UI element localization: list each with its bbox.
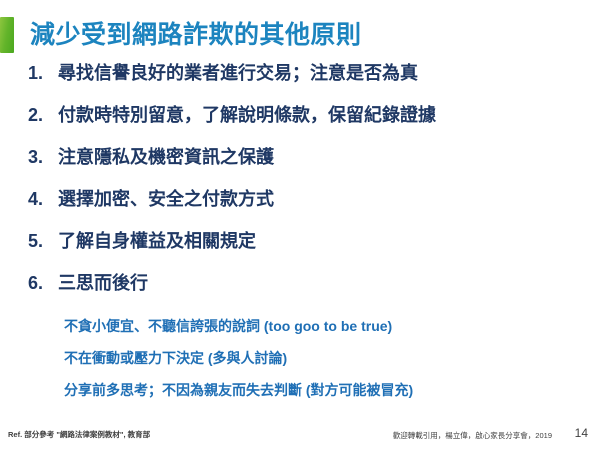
- sub-bullet-list: 不貪小便宜、不聽信誇張的說詞 (too goo to be true) 不在衝動…: [64, 310, 584, 406]
- sub-bullet-item: 不在衝動或壓力下決定 (多與人討論): [64, 342, 584, 374]
- list-item: 2. 付款時特別留意，了解說明條款，保留紀錄證據: [28, 106, 584, 148]
- list-item-number: 3.: [28, 148, 58, 166]
- list-item-label: 三思而後行: [58, 274, 148, 292]
- title-row: 減少受到網路詐欺的其他原則: [0, 16, 600, 54]
- list-item: 4. 選擇加密、安全之付款方式: [28, 190, 584, 232]
- slide-canvas: 減少受到網路詐欺的其他原則 1. 尋找信譽良好的業者進行交易；注意是否為真 2.…: [0, 0, 600, 450]
- list-item-label: 注意隱私及機密資訊之保護: [58, 148, 274, 166]
- list-item-number: 2.: [28, 106, 58, 124]
- list-item-label: 了解自身權益及相關規定: [58, 232, 256, 250]
- list-item-number: 1.: [28, 64, 58, 82]
- list-item-number: 4.: [28, 190, 58, 208]
- list-item-label: 選擇加密、安全之付款方式: [58, 190, 274, 208]
- list-item: 3. 注意隱私及機密資訊之保護: [28, 148, 584, 190]
- page-title: 減少受到網路詐欺的其他原則: [30, 23, 362, 48]
- list-item-number: 5.: [28, 232, 58, 250]
- list-item-label: 尋找信譽良好的業者進行交易；注意是否為真: [58, 64, 418, 82]
- footer-reference: Ref. 部分參考 "網路法律案例教材", 教育部: [8, 429, 150, 440]
- sub-bullet-item: 分享前多思考；不因為親友而失去判斷 (對方可能被冒充): [64, 374, 584, 406]
- list-item-label: 付款時特別留意，了解說明條款，保留紀錄證據: [58, 106, 436, 124]
- numbered-list: 1. 尋找信譽良好的業者進行交易；注意是否為真 2. 付款時特別留意，了解說明條…: [28, 64, 584, 316]
- page-number: 14: [575, 426, 588, 440]
- list-item: 1. 尋找信譽良好的業者進行交易；注意是否為真: [28, 64, 584, 106]
- list-item: 5. 了解自身權益及相關規定: [28, 232, 584, 274]
- list-item-number: 6.: [28, 274, 58, 292]
- green-accent-bar: [0, 17, 14, 53]
- footer-attribution: 歡迎轉載引用，楊立偉，啟心家長分享會，2019: [393, 430, 552, 441]
- sub-bullet-item: 不貪小便宜、不聽信誇張的說詞 (too goo to be true): [64, 310, 584, 342]
